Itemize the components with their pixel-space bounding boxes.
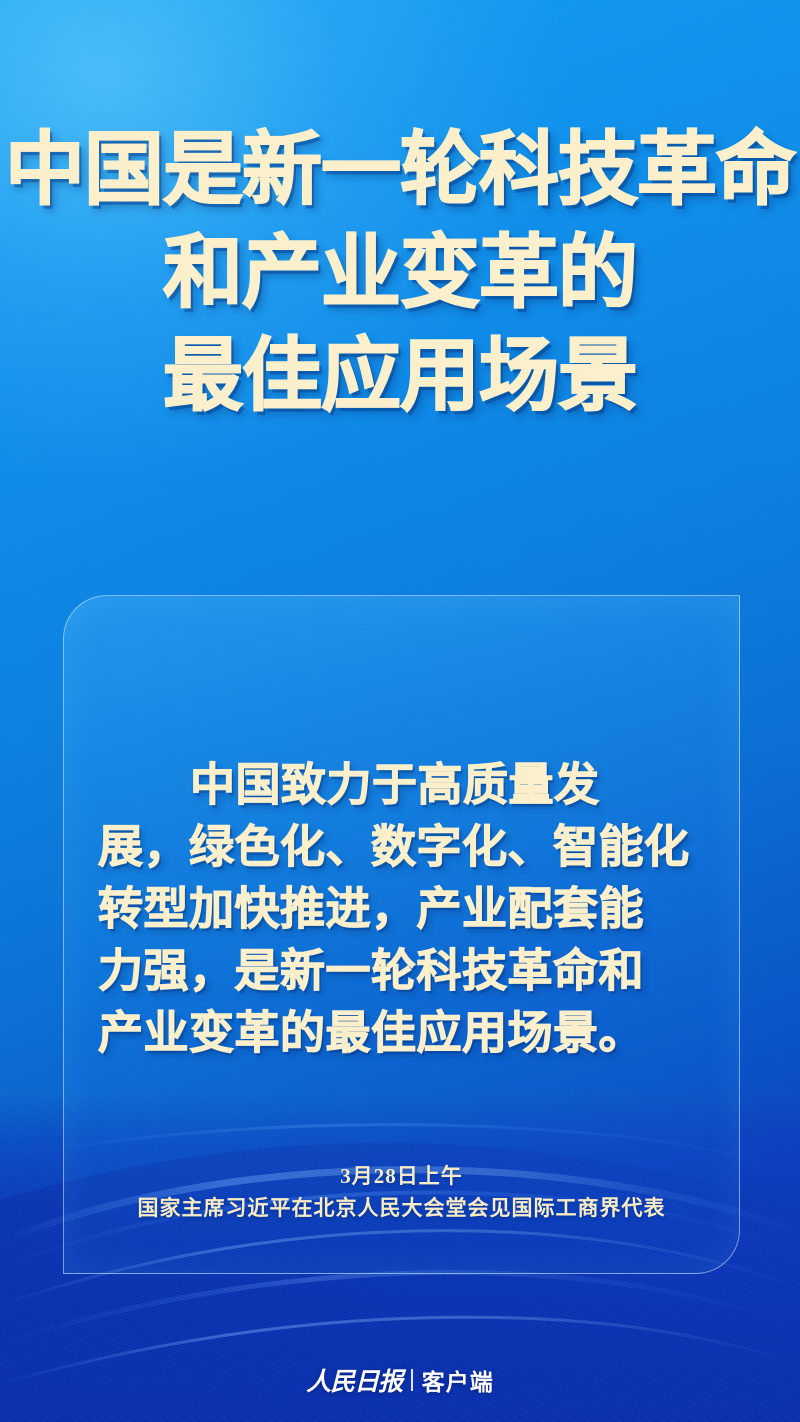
- quote-line-4: 力强，是新一轮科技革命和: [98, 940, 705, 1002]
- headline-line-3: 最佳应用场景: [0, 324, 800, 427]
- quote-line-1: 中国致力于高质量发: [98, 754, 705, 816]
- headline-line-1: 中国是新一轮科技革命: [0, 118, 800, 221]
- brand-divider-icon: [411, 1369, 413, 1391]
- poster-canvas: 中国是新一轮科技革命 和产业变革的 最佳应用场景 中国致力于高质量发 展，绿色化…: [0, 0, 800, 1422]
- quote-line-3: 转型加快推进，产业配套能: [98, 878, 705, 940]
- poster-headline: 中国是新一轮科技革命 和产业变革的 最佳应用场景: [0, 118, 800, 427]
- peoples-daily-wordmark: 人民日报: [306, 1362, 402, 1398]
- quote-line-5: 产业变革的最佳应用场景。: [98, 1002, 705, 1064]
- footer-brand-logo: 人民日报 客户端: [0, 1362, 800, 1398]
- app-name-label: 客户端: [422, 1363, 494, 1397]
- attribution-date: 3月28日上午: [64, 1161, 739, 1192]
- attribution-event: 国家主席习近平在北京人民大会堂会见国际工商界代表: [64, 1192, 739, 1225]
- quote-card: 中国致力于高质量发 展，绿色化、数字化、智能化 转型加快推进，产业配套能 力强，…: [63, 595, 740, 1274]
- headline-line-2: 和产业变革的: [0, 221, 800, 324]
- quote-attribution: 3月28日上午 国家主席习近平在北京人民大会堂会见国际工商界代表: [64, 1161, 739, 1225]
- quote-text: 中国致力于高质量发 展，绿色化、数字化、智能化 转型加快推进，产业配套能 力强，…: [98, 754, 705, 1064]
- quote-line-2: 展，绿色化、数字化、智能化: [98, 816, 705, 878]
